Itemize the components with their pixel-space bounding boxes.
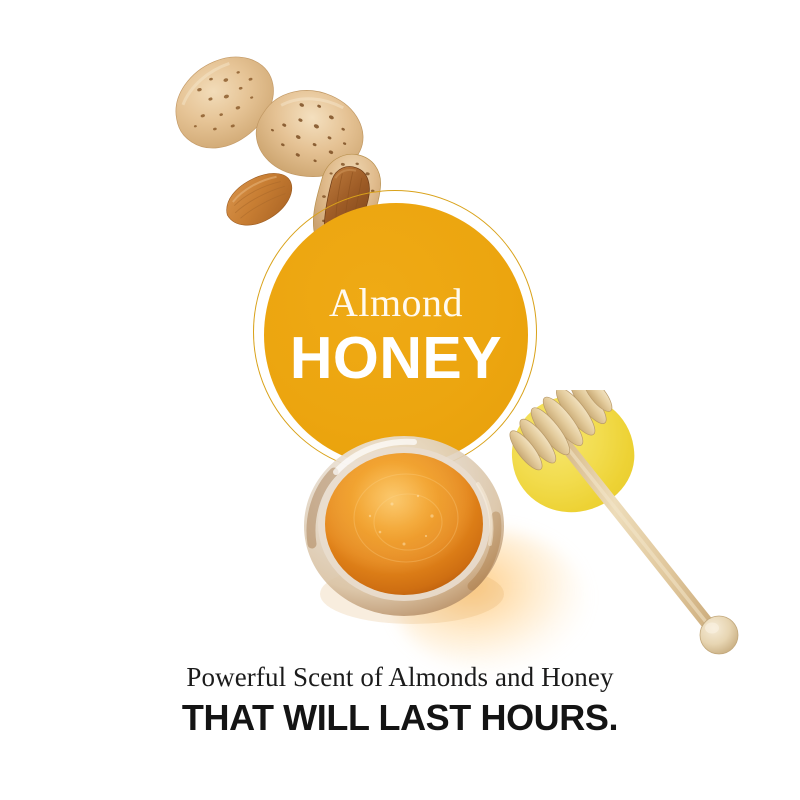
badge-title-honey: HONEY: [290, 329, 502, 388]
caption-block: Powerful Scent of Almonds and Honey THAT…: [0, 662, 800, 739]
honey-dipper: [500, 390, 760, 670]
honey-jar: [300, 432, 515, 627]
badge-text-group: Almond HONEY: [264, 203, 528, 467]
poster-canvas: Almond HONEY: [0, 0, 800, 800]
badge-title-almond: Almond: [329, 283, 463, 323]
caption-line-1: Powerful Scent of Almonds and Honey: [0, 662, 800, 693]
caption-line-2: THAT WILL LAST HOURS.: [0, 697, 800, 739]
